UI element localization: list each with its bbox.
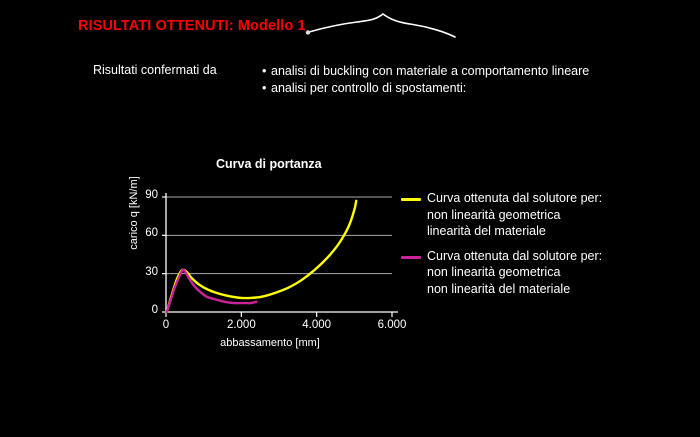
chart-legend: Curva ottenuta dal solutore per:non line…	[401, 190, 691, 305]
chart-y-axis-label: carico q [kN/m]	[128, 153, 140, 273]
slide-canvas: RISULTATI OTTENUTI: Modello 1 Risultati …	[0, 0, 700, 437]
chart-series-line	[168, 201, 357, 310]
arch-decoration-icon	[303, 6, 468, 44]
bullet-marker-icon: •	[262, 63, 271, 80]
list-item-label: analisi di buckling con materiale a comp…	[271, 64, 589, 78]
bullet-list: •analisi di buckling con materiale a com…	[262, 63, 589, 97]
x-tick-label: 6.000	[362, 319, 422, 331]
legend-label-line: non linearità del materiale	[427, 281, 691, 298]
chart-series	[167, 201, 356, 312]
x-tick-label: 2.000	[211, 319, 271, 331]
legend-label: Curva ottenuta dal solutore per:non line…	[427, 190, 691, 240]
x-tick-label: 4.000	[287, 319, 347, 331]
chart-axes	[166, 193, 398, 312]
legend-label-line: non linearità geometrica	[427, 207, 691, 224]
legend-label-line: Curva ottenuta dal solutore per:	[427, 248, 691, 265]
list-item: •analisi per controllo di spostamenti:	[262, 80, 589, 97]
legend-color-swatch	[401, 198, 421, 201]
list-item-label: analisi per controllo di spostamenti:	[271, 81, 466, 95]
chart-tickmarks	[162, 197, 392, 317]
legend-label-line: non linearità geometrica	[427, 264, 691, 281]
list-item: •analisi di buckling con materiale a com…	[262, 63, 589, 80]
legend-label-line: linearità del materiale	[427, 223, 691, 240]
bullet-marker-icon: •	[262, 80, 271, 97]
legend-color-swatch	[401, 256, 421, 259]
legend-entry: Curva ottenuta dal solutore per:non line…	[401, 248, 691, 298]
chart-gridlines	[166, 197, 392, 274]
chart-x-axis-label: abbassamento [mm]	[170, 337, 370, 349]
legend-entry: Curva ottenuta dal solutore per:non line…	[401, 190, 691, 240]
y-tick-label: 0	[124, 304, 158, 316]
chart-curva-di-portanza: Curva di portanza 0306090 02.0004.0006.0…	[110, 145, 410, 370]
legend-label-line: Curva ottenuta dal solutore per:	[427, 190, 691, 207]
lead-text: Risultati confermati da	[93, 63, 217, 77]
legend-label: Curva ottenuta dal solutore per:non line…	[427, 248, 691, 298]
page-title: RISULTATI OTTENUTI: Modello 1	[78, 18, 306, 34]
x-tick-label: 0	[136, 319, 196, 331]
